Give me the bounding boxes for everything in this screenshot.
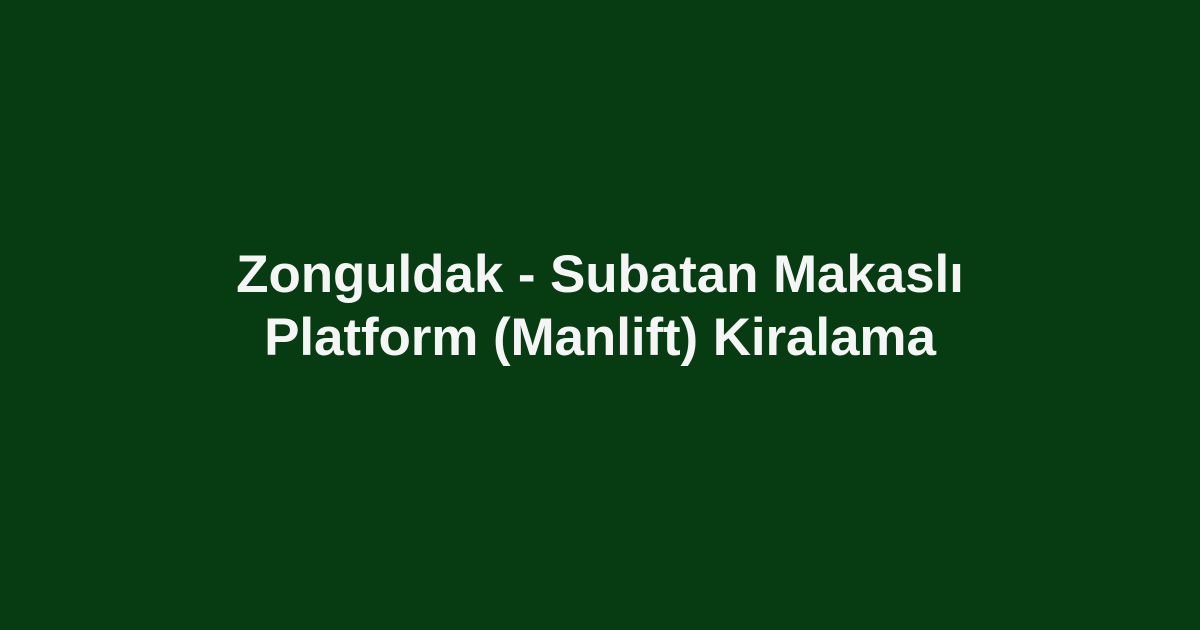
share-card-content: Zonguldak - Subatan Makaslı Platform (Ma…: [100, 243, 1100, 369]
share-card: Zonguldak - Subatan Makaslı Platform (Ma…: [0, 0, 1200, 630]
page-title-line-1: Zonguldak - Subatan Makaslı: [140, 243, 1060, 306]
page-title: Zonguldak - Subatan Makaslı Platform (Ma…: [140, 243, 1060, 369]
page-title-line-2: Platform (Manlift) Kiralama: [140, 306, 1060, 369]
